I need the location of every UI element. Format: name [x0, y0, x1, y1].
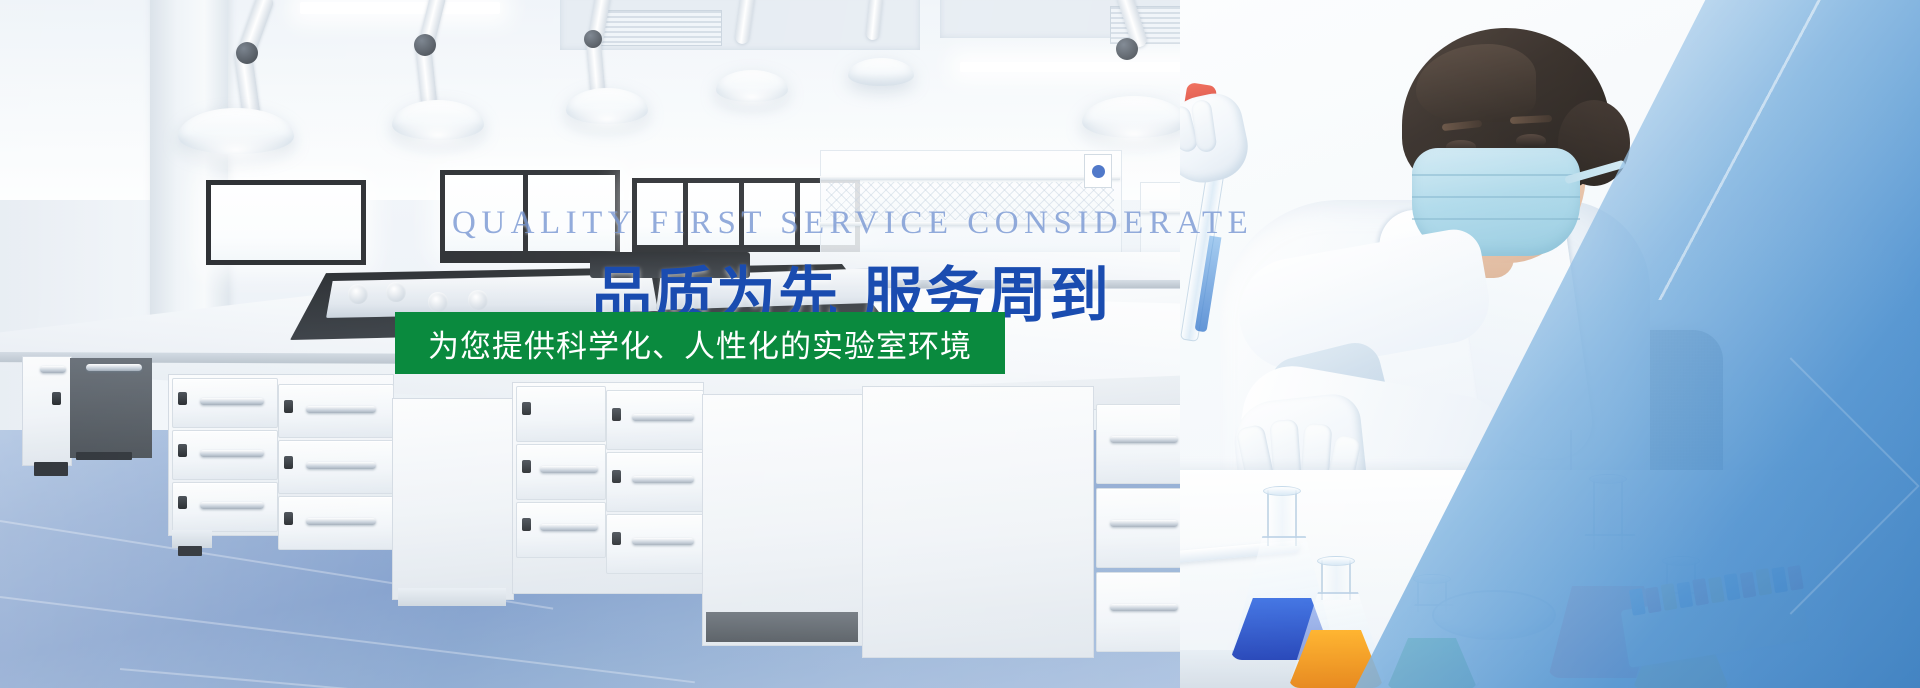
- green-band-label: 为您提供科学化、人性化的实验室环境: [428, 321, 972, 366]
- banner-text-layer: QUALITY FIRST SERVICE CONSIDERATE 品质为先 服…: [0, 0, 1920, 688]
- lab-hero-banner: QUALITY FIRST SERVICE CONSIDERATE 品质为先 服…: [0, 0, 1920, 688]
- green-subtitle-band: 为您提供科学化、人性化的实验室环境: [395, 312, 1005, 374]
- english-tagline: QUALITY FIRST SERVICE CONSIDERATE: [452, 205, 1253, 242]
